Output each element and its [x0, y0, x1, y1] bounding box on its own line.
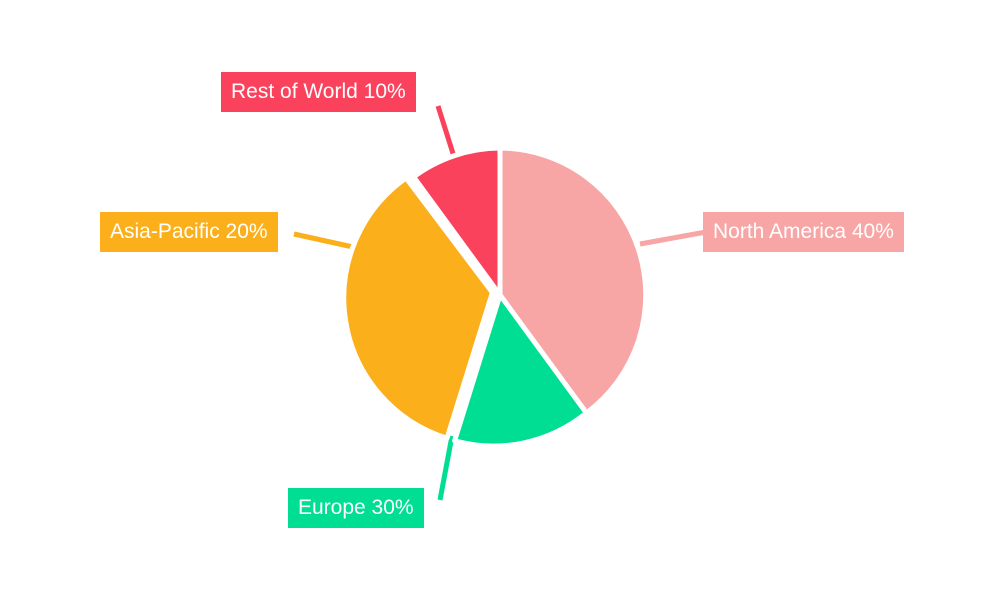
- pie-label-europe-text: Europe 30%: [298, 488, 414, 528]
- pie-chart-figure: North America 40% Europe 30% Asia-Pacifi…: [0, 0, 1000, 600]
- pie-label-north-america[interactable]: North America 40%: [703, 212, 904, 252]
- leader-line-north-america: [640, 232, 706, 244]
- pie-label-rest-of-world-text: Rest of World 10%: [231, 72, 406, 112]
- pie-label-rest-of-world[interactable]: Rest of World 10%: [221, 72, 416, 112]
- pie-wedges: [344, 148, 646, 446]
- pie-label-north-america-text: North America 40%: [713, 212, 894, 252]
- leader-line-europe: [440, 436, 452, 500]
- pie-chart-canvas: [0, 0, 1000, 600]
- pie-label-asia-pacific-text: Asia-Pacific 20%: [110, 212, 268, 252]
- pie-label-europe[interactable]: Europe 30%: [288, 488, 424, 528]
- pie-label-asia-pacific[interactable]: Asia-Pacific 20%: [100, 212, 278, 252]
